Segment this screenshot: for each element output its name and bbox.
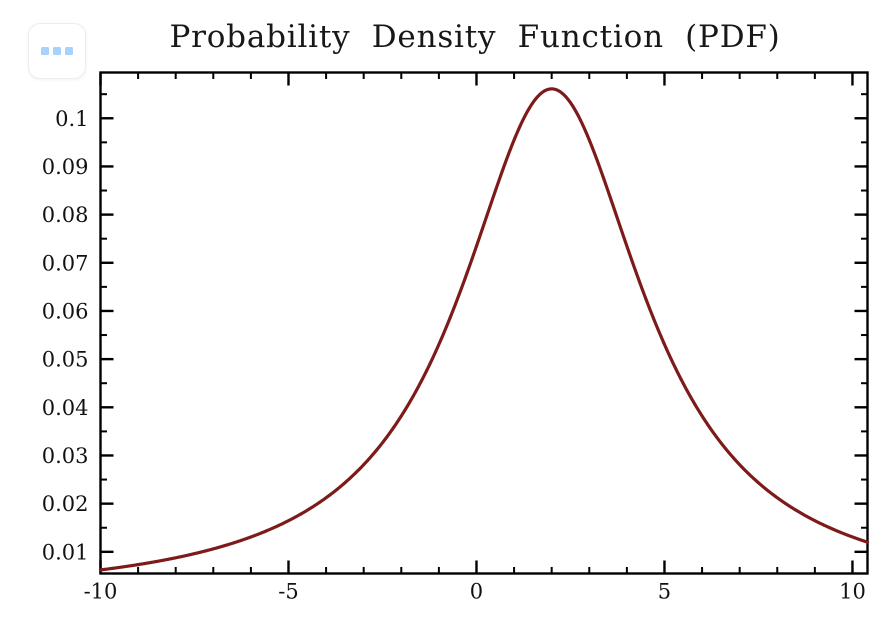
y-tick-label: 0.09 xyxy=(42,155,89,179)
axis-frame xyxy=(101,73,868,574)
x-tick-label: -5 xyxy=(278,580,298,604)
x-axis-minor-ticks xyxy=(138,73,815,574)
x-axis-tick-labels: -10-50510 xyxy=(84,580,866,604)
chart-plot-area: -10-50510 0.010.020.030.040.050.060.070.… xyxy=(0,0,896,638)
y-axis-major-ticks xyxy=(101,118,868,552)
x-tick-label: 10 xyxy=(839,580,866,604)
y-axis-minor-ticks xyxy=(101,94,868,528)
y-tick-label: 0.01 xyxy=(42,540,89,564)
pdf-curve xyxy=(101,89,868,570)
y-tick-label: 0.08 xyxy=(42,203,89,227)
y-tick-label: 0.07 xyxy=(42,251,89,275)
x-tick-label: 5 xyxy=(658,580,671,604)
y-tick-label: 0.1 xyxy=(55,107,88,131)
x-tick-label: -10 xyxy=(84,580,118,604)
x-axis-major-ticks xyxy=(101,73,853,574)
y-axis-tick-labels: 0.010.020.030.040.050.060.070.080.090.1 xyxy=(42,107,89,565)
y-tick-label: 0.03 xyxy=(42,444,89,468)
y-tick-label: 0.02 xyxy=(42,492,89,516)
x-tick-label: 0 xyxy=(470,580,483,604)
y-tick-label: 0.04 xyxy=(42,396,89,420)
y-tick-label: 0.05 xyxy=(42,348,89,372)
y-tick-label: 0.06 xyxy=(42,299,89,323)
chart-svg: -10-50510 0.010.020.030.040.050.060.070.… xyxy=(0,0,896,638)
